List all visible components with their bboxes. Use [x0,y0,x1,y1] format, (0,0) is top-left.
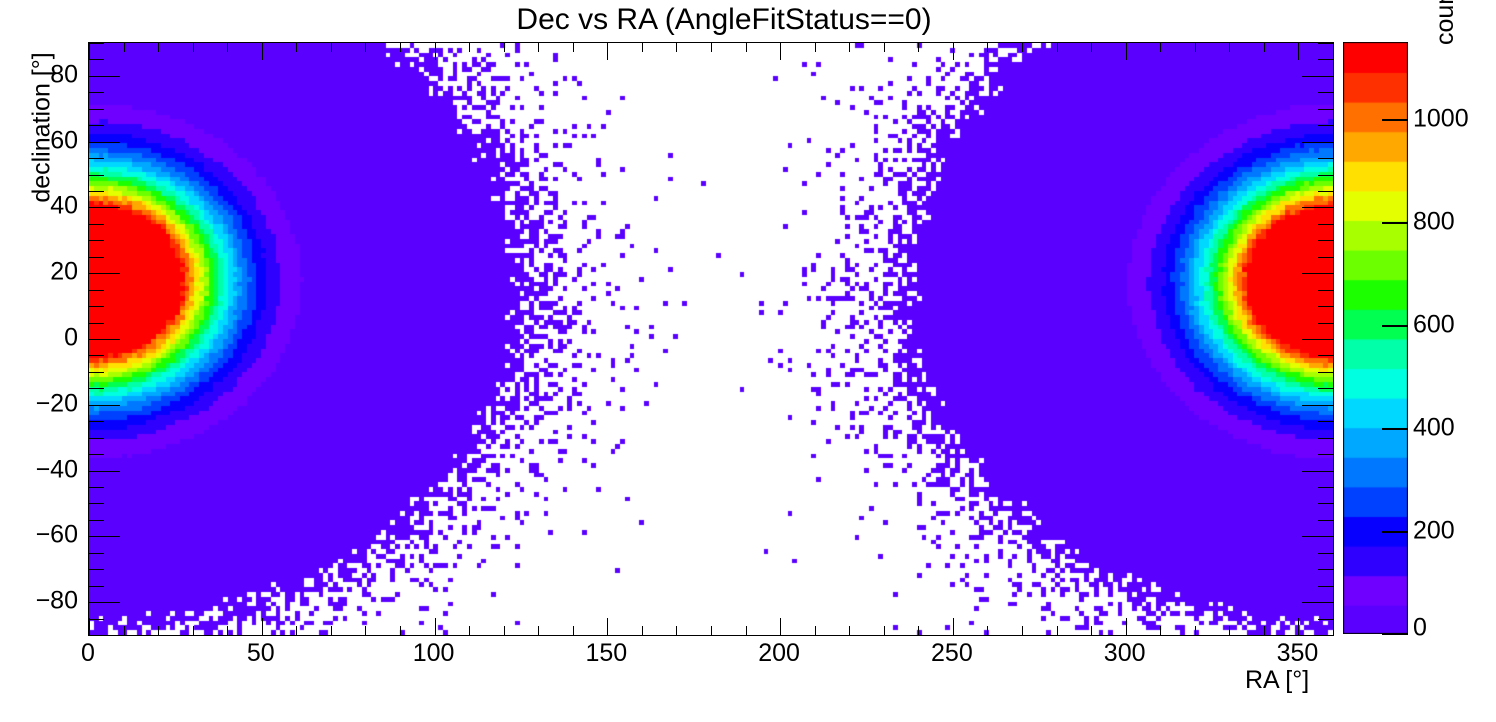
y-major-tick [89,405,120,406]
x-minor-tick [1022,626,1023,635]
y-minor-tick-right [1318,109,1333,110]
y-minor-tick-right [1318,59,1333,60]
x-minor-tick-top [884,43,885,52]
x-minor-tick [642,626,643,635]
y-major-tick [89,142,120,143]
x-minor-tick [158,626,159,635]
x-axis-tick-label: 0 [81,641,95,666]
x-axis-tick-label: 300 [1104,641,1146,666]
y-minor-tick-right [1318,438,1333,439]
y-minor-tick [89,158,104,159]
x-minor-tick [711,626,712,635]
y-minor-tick-right [1318,224,1333,225]
y-minor-tick [89,421,104,422]
x-minor-tick [124,626,125,635]
y-major-tick [89,471,120,472]
y-minor-tick-right [1318,553,1333,554]
y-minor-tick [89,553,104,554]
x-minor-tick [746,626,747,635]
y-minor-tick [89,240,104,241]
x-minor-tick-top [331,43,332,52]
x-major-tick [262,618,263,635]
y-major-tick-right [1302,142,1333,143]
x-axis-tick-label: 200 [758,641,800,666]
x-minor-tick-top [296,43,297,52]
y-major-tick [89,536,120,537]
y-major-tick-right [1302,273,1333,274]
y-minor-tick [89,175,104,176]
y-minor-tick-right [1318,569,1333,570]
x-major-tick-top [262,43,263,60]
x-major-tick-top [780,43,781,60]
y-axis-tick-label: −80 [36,589,78,614]
x-minor-tick [573,626,574,635]
plot-frame [88,42,1334,636]
x-minor-tick-top [746,43,747,52]
x-axis-tick-label: 50 [247,641,275,666]
y-minor-tick-right [1318,125,1333,126]
x-major-tick [607,618,608,635]
y-minor-tick-right [1318,503,1333,504]
x-minor-tick-top [1195,43,1196,52]
y-minor-tick-right [1318,487,1333,488]
y-minor-tick [89,290,104,291]
x-minor-tick [1091,626,1092,635]
y-major-tick-right [1302,207,1333,208]
x-major-tick [435,618,436,635]
x-axis-tick-label: 150 [585,641,627,666]
x-major-tick-top [89,43,90,60]
color-scale-tick [1382,633,1408,635]
y-minor-tick-right [1318,92,1333,93]
y-minor-tick [89,125,104,126]
color-scale-tick-label: 600 [1413,313,1455,338]
x-minor-tick-top [124,43,125,52]
y-major-tick [89,339,120,340]
y-minor-tick [89,586,104,587]
y-minor-tick-right [1318,191,1333,192]
y-axis-tick-label: 0 [64,326,78,351]
x-minor-tick-top [918,43,919,52]
y-major-tick-right [1302,602,1333,603]
x-major-tick [953,618,954,635]
color-scale-tick-label: 0 [1413,616,1427,641]
y-axis-tick-label: −60 [36,523,78,548]
x-minor-tick-top [1057,43,1058,52]
x-minor-tick [987,626,988,635]
y-major-tick [89,602,120,603]
y-minor-tick-right [1318,619,1333,620]
color-scale-bar [1343,42,1408,634]
page-title: Dec vs RA (AngleFitStatus==0) [0,1,1448,39]
y-minor-tick-right [1318,388,1333,389]
y-minor-tick-right [1318,257,1333,258]
y-minor-tick [89,109,104,110]
x-minor-tick-top [227,43,228,52]
x-minor-tick-top [711,43,712,52]
y-minor-tick-right [1318,372,1333,373]
x-minor-tick-top [1229,43,1230,52]
color-scale-canvas [1343,42,1408,634]
y-minor-tick [89,635,104,636]
color-scale-tick [1382,531,1408,533]
x-axis-tick-label: 100 [413,641,455,666]
x-minor-tick-top [1264,43,1265,52]
x-major-tick-top [607,43,608,60]
color-scale-title: count [1433,0,1458,45]
y-minor-tick-right [1318,290,1333,291]
x-major-tick-top [1298,43,1299,60]
color-scale-tick [1382,222,1408,224]
y-minor-tick [89,388,104,389]
y-minor-tick [89,224,104,225]
y-minor-tick-right [1318,454,1333,455]
y-axis-title: declination [°] [30,0,55,258]
x-minor-tick-top [193,43,194,52]
x-minor-tick-top [158,43,159,52]
y-minor-tick [89,503,104,504]
x-minor-tick-top [365,43,366,52]
y-minor-tick [89,438,104,439]
y-minor-tick-right [1318,158,1333,159]
x-major-tick-top [435,43,436,60]
x-minor-tick-top [573,43,574,52]
x-minor-tick-top [815,43,816,52]
x-major-tick-top [953,43,954,60]
y-minor-tick [89,487,104,488]
x-minor-tick [504,626,505,635]
color-scale-tick [1382,119,1408,121]
y-major-tick-right [1302,405,1333,406]
x-minor-tick [331,626,332,635]
x-minor-tick [1057,626,1058,635]
x-minor-tick [400,626,401,635]
color-scale-tick-label: 1000 [1413,107,1469,132]
y-minor-tick [89,306,104,307]
y-minor-tick [89,191,104,192]
color-scale-tick-label: 400 [1413,416,1455,441]
y-major-tick [89,76,120,77]
x-minor-tick [1229,626,1230,635]
y-major-tick-right [1302,471,1333,472]
y-minor-tick [89,257,104,258]
x-minor-tick [676,626,677,635]
y-minor-tick [89,355,104,356]
color-scale-tick [1382,325,1408,327]
y-minor-tick-right [1318,240,1333,241]
y-minor-tick [89,520,104,521]
y-minor-tick-right [1318,306,1333,307]
y-minor-tick-right [1318,323,1333,324]
y-axis-tick-label: 20 [50,260,78,285]
y-minor-tick-right [1318,421,1333,422]
x-minor-tick [1333,626,1334,635]
y-major-tick-right [1302,536,1333,537]
x-axis-title: RA [°] [1245,668,1309,693]
x-axis-tick-label: 250 [931,641,973,666]
x-minor-tick-top [676,43,677,52]
color-scale-tick [1382,428,1408,430]
x-minor-tick [1160,626,1161,635]
y-minor-tick [89,569,104,570]
y-minor-tick [89,619,104,620]
y-minor-tick [89,372,104,373]
x-minor-tick [815,626,816,635]
x-minor-tick-top [504,43,505,52]
x-major-tick-top [1126,43,1127,60]
x-minor-tick [849,626,850,635]
y-minor-tick [89,454,104,455]
y-major-tick [89,207,120,208]
x-major-tick [1126,618,1127,635]
y-minor-tick-right [1318,175,1333,176]
x-minor-tick [227,626,228,635]
color-scale-tick-label: 200 [1413,519,1455,544]
x-minor-tick-top [400,43,401,52]
x-minor-tick [1195,626,1196,635]
x-major-tick [780,618,781,635]
x-minor-tick-top [849,43,850,52]
x-minor-tick-top [1091,43,1092,52]
y-axis-tick-label: −20 [36,391,78,416]
y-minor-tick-right [1318,635,1333,636]
x-major-tick [1298,618,1299,635]
x-minor-tick [918,626,919,635]
x-minor-tick-top [1333,43,1334,52]
y-major-tick [89,273,120,274]
y-axis-tick-label: −40 [36,457,78,482]
x-minor-tick-top [642,43,643,52]
x-minor-tick [296,626,297,635]
heatmap-canvas [89,43,1333,635]
x-minor-tick-top [538,43,539,52]
y-minor-tick [89,59,104,60]
x-minor-tick [193,626,194,635]
x-axis-tick-label: 350 [1277,641,1319,666]
x-minor-tick [884,626,885,635]
x-minor-tick-top [1160,43,1161,52]
color-scale-tick-label: 800 [1413,210,1455,235]
y-minor-tick-right [1318,586,1333,587]
plot-root: Dec vs RA (AngleFitStatus==0) 0501001502… [0,0,1496,722]
y-minor-tick-right [1318,43,1333,44]
x-minor-tick [538,626,539,635]
x-minor-tick-top [469,43,470,52]
y-minor-tick [89,323,104,324]
x-major-tick [89,618,90,635]
y-minor-tick-right [1318,520,1333,521]
x-minor-tick [1264,626,1265,635]
y-major-tick-right [1302,76,1333,77]
y-major-tick-right [1302,339,1333,340]
x-minor-tick [469,626,470,635]
x-minor-tick-top [987,43,988,52]
x-minor-tick [365,626,366,635]
y-minor-tick [89,43,104,44]
y-minor-tick-right [1318,355,1333,356]
y-minor-tick [89,92,104,93]
x-minor-tick-top [1022,43,1023,52]
